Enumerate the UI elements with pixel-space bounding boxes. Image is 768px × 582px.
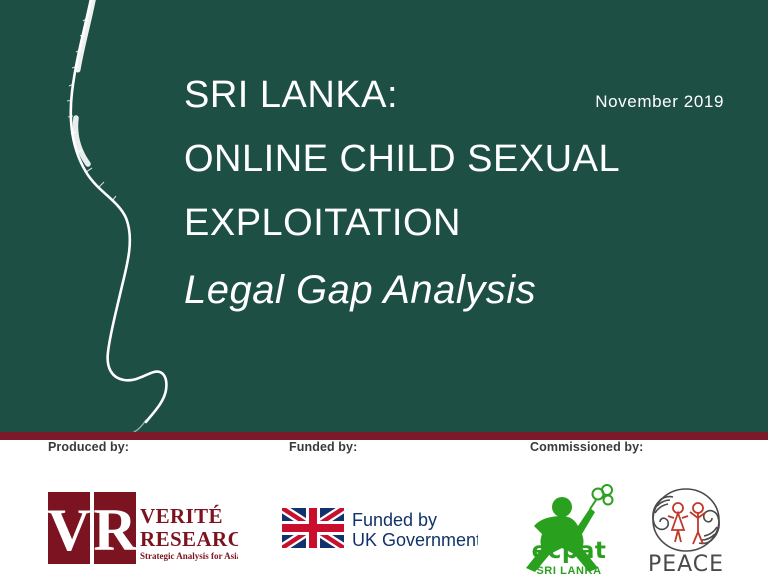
credit-label-funded-by: Funded by: (289, 440, 357, 454)
verite-wordmark-line-2: RESEARCH (140, 527, 238, 551)
credit-produced-by: Produced by: (48, 440, 129, 454)
peace-children-figures-icon (668, 503, 706, 544)
verite-research-logo: V R VERITÉ RESEARCH Strategic Analysis f… (48, 490, 238, 566)
verite-monogram-v: V (48, 497, 91, 563)
report-cover-page: SRI LANKA: ONLINE CHILD SEXUAL EXPLOITAT… (0, 0, 768, 582)
verite-wordmark-line-1: VERITÉ (140, 504, 223, 528)
hero-panel: SRI LANKA: ONLINE CHILD SEXUAL EXPLOITAT… (0, 0, 768, 432)
credit-commissioned-by: Commissioned by: (530, 440, 643, 454)
credit-label-commissioned-by: Commissioned by: (530, 440, 643, 454)
uk-logo-text-line-2: UK Government (352, 530, 478, 550)
verite-tagline: Strategic Analysis for Asia (140, 551, 238, 561)
uk-government-funded-logo: Funded by UK Government (282, 505, 478, 551)
subtitle: Legal Gap Analysis (184, 270, 724, 310)
ecpat-wordmark: ecpat (532, 538, 607, 564)
peace-logo: PEACE (636, 486, 736, 578)
credit-label-produced-by: Produced by: (48, 440, 129, 454)
accent-divider (0, 432, 768, 440)
title-line-2: ONLINE CHILD SEXUAL (184, 140, 724, 178)
verite-monogram-r: R (93, 497, 137, 563)
union-jack-flag-icon (282, 508, 344, 548)
peace-wordmark: PEACE (648, 552, 724, 577)
title-line-3: EXPLOITATION (184, 204, 724, 242)
peace-hands-circle-icon (653, 489, 719, 551)
ecpat-sub-wordmark: SRI LANKA (536, 565, 601, 577)
ecpat-sri-lanka-logo: ecpat SRI LANKA (520, 482, 618, 578)
credit-funded-by: Funded by: (289, 440, 357, 454)
ecpat-flower-icon (590, 485, 613, 509)
uk-logo-text-line-1: Funded by (352, 510, 437, 530)
publication-date: November 2019 (595, 92, 724, 112)
